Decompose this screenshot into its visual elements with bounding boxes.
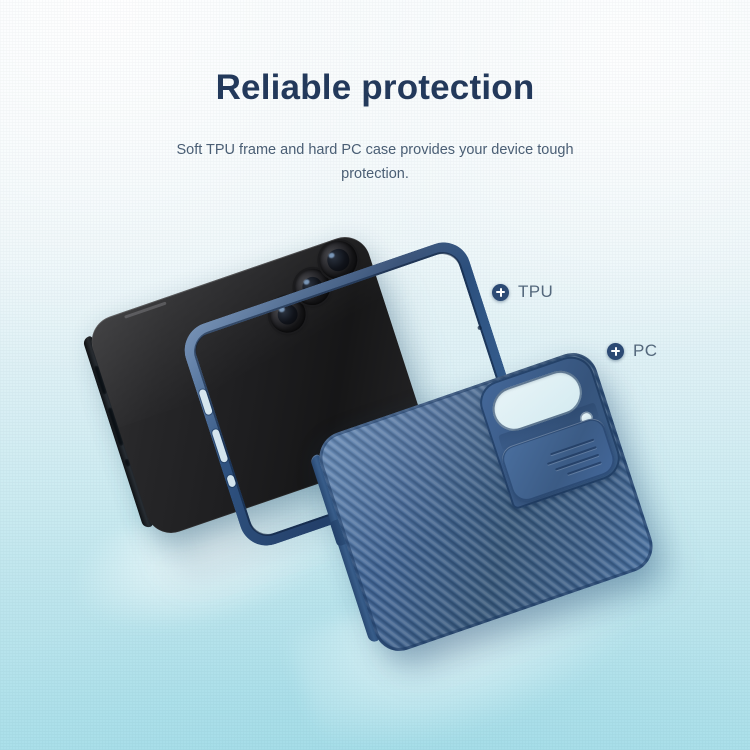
plus-circle-icon	[492, 284, 509, 301]
product-exploded-view: TPU PC	[0, 0, 750, 750]
callout-pc: PC	[607, 341, 657, 361]
product-feature-banner: Reliable protection Soft TPU frame and h…	[0, 0, 750, 750]
callout-tpu: TPU	[492, 282, 553, 302]
callout-pc-label: PC	[633, 341, 657, 361]
callout-tpu-label: TPU	[518, 282, 553, 302]
plus-circle-icon	[607, 343, 624, 360]
